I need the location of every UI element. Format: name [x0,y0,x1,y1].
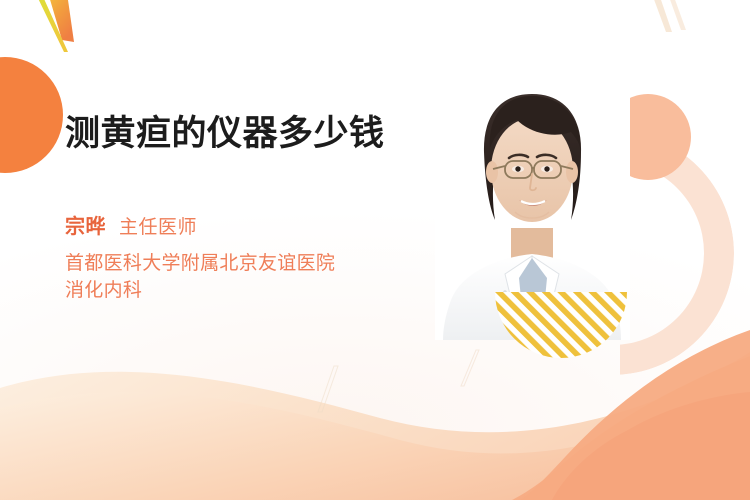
doctor-name: 宗晔 [65,210,106,239]
doctor-department: 消化内科 [65,277,425,304]
doctor-credentials: 宗晔 主任医师 [65,210,425,239]
striped-semicircle-decoration [495,292,627,358]
text-block: 测黄疸的仪器多少钱 宗晔 主任医师 首都医科大学附属北京友谊医院 消化内科 [65,112,425,304]
page-title: 测黄疸的仪器多少钱 [65,112,425,155]
video-cover-card: 测黄疸的仪器多少钱 宗晔 主任医师 首都医科大学附属北京友谊医院 消化内科 [0,0,750,500]
doctor-hospital: 首都医科大学附属北京友谊医院 [65,250,425,277]
doctor-rank: 主任医师 [119,212,197,239]
diagonal-stripe-faint-icon [652,0,686,32]
orange-circle-decoration [0,57,63,173]
